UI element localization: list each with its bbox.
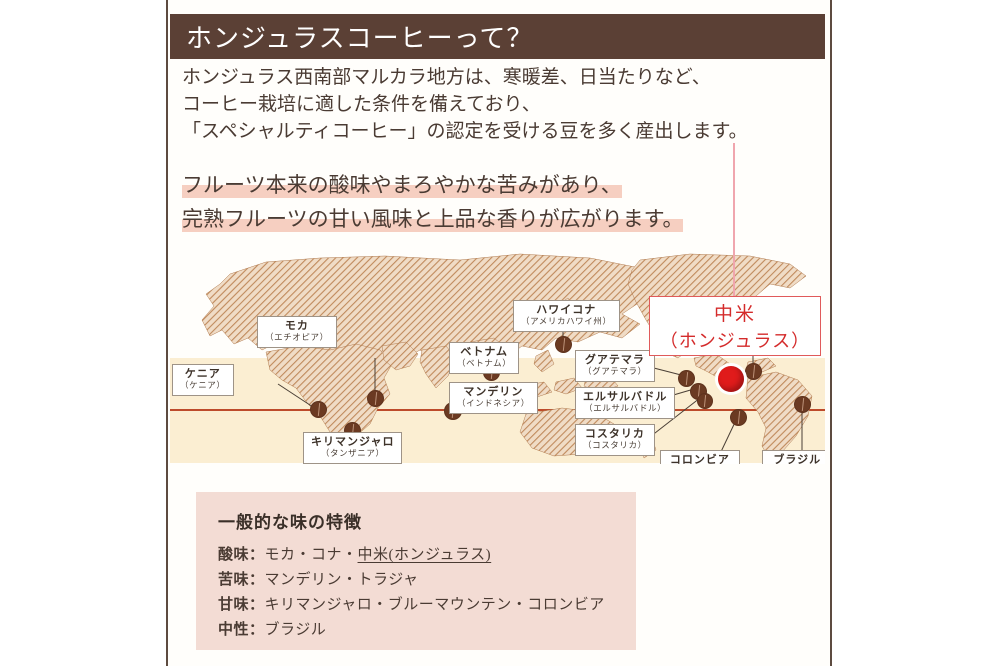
map-label-country: （インドネシア）	[457, 399, 530, 409]
map-label-mocha: モカ （エチオピア）	[257, 316, 337, 348]
page-frame-right-rule	[830, 0, 832, 666]
intro-line-3: 「スペシャルティコーヒー」の認定を受ける豆を多く産出します。	[182, 118, 822, 145]
legend-row-label: 甘味：	[218, 597, 265, 613]
bean-marker-blue-mountain	[745, 363, 762, 380]
highlight-line-2: 完熟フルーツの甘い風味と上品な香りが広がります。	[182, 202, 683, 236]
legend-row-label: 酸味：	[218, 547, 265, 563]
bean-marker-mocha	[367, 390, 384, 407]
legend-row-items: キリマンジャロ・ブルーマウンテン・コロンビア	[265, 597, 605, 613]
map-label-vietnam: ベトナム （ベトナム）	[449, 342, 519, 374]
map-label-name: モカ	[265, 320, 329, 332]
legend-row-items: モカ・コナ・	[265, 547, 358, 563]
highlight-line-2-text: 完熟フルーツの甘い風味と上品な香りが広がります。	[182, 207, 683, 231]
map-label-name: キリマンジャロ	[311, 436, 394, 448]
legend-row-items: ブラジル	[265, 622, 327, 638]
highlight-paragraph: フルーツ本来の酸味やまろやかな苦みがあり、 完熟フルーツの甘い風味と上品な香りが…	[182, 168, 822, 236]
legend-row-neutral: 中性：ブラジル	[218, 618, 636, 643]
legend-row-acidity: 酸味：モカ・コナ・中米(ホンジュラス)	[218, 543, 636, 568]
legend-heading: 一般的な味の特徴	[218, 508, 636, 533]
map-label-guatemala: グアテマラ （グアテマラ）	[575, 350, 655, 382]
legend-row-sweetness: 甘味：キリマンジャロ・ブルーマウンテン・コロンビア	[218, 593, 636, 618]
callout-line-1: 中米	[714, 299, 756, 326]
map-label-country: （エチオピア）	[265, 333, 329, 343]
map-label-name: ハワイコナ	[521, 304, 612, 316]
intro-line-2: コーヒー栽培に適した条件を備えており、	[182, 91, 822, 118]
legend-row-label: 苦味：	[218, 572, 265, 588]
map-label-name: エルサルバドル	[583, 391, 667, 403]
map-label-mandheling: マンデリン （インドネシア）	[449, 382, 538, 414]
legend-row-bitterness: 苦味：マンデリン・トラジャ	[218, 568, 636, 593]
page-title: ホンジュラスコーヒーって？	[170, 18, 533, 55]
bean-marker-brazil	[794, 396, 811, 413]
map-label-country: （ベトナム）	[457, 359, 511, 369]
map-label-colombia: コロンビア （コロンビア）	[660, 450, 740, 464]
content-area: ホンジュラスコーヒーって？ ホンジュラス西南部マルカラ地方は、寒暖差、日当たりな…	[168, 0, 830, 666]
map-label-country: （コスタリカ）	[583, 441, 647, 451]
legend-row-emphasis: 中米(ホンジュラス)	[358, 547, 492, 563]
map-label-costa-rica: コスタリカ （コスタリカ）	[575, 424, 655, 456]
map-label-country: （エルサルバドル）	[583, 404, 667, 414]
map-label-country: （グアテマラ）	[583, 367, 647, 377]
map-label-country: （アメリカハワイ州）	[521, 317, 612, 327]
map-label-kenya: ケニア （ケニア）	[172, 364, 234, 396]
map-label-name: グアテマラ	[583, 354, 647, 366]
section-title-bar: ホンジュラスコーヒーって？	[170, 14, 825, 59]
map-label-hawaii-kona: ハワイコナ （アメリカハワイ州）	[513, 300, 620, 332]
infographic-page: ホンジュラスコーヒーって？ ホンジュラス西南部マルカラ地方は、寒暖差、日当たりな…	[0, 0, 1000, 666]
highlight-line-1-text: フルーツ本来の酸味やまろやかな苦みがあり、	[182, 173, 622, 197]
bean-marker-costa-rica	[697, 393, 713, 409]
intro-line-1: ホンジュラス西南部マルカラ地方は、寒暖差、日当たりなど、	[182, 64, 822, 91]
map-label-country: （タンザニア）	[311, 449, 394, 459]
bean-marker-colombia	[730, 409, 747, 426]
map-label-name: コスタリカ	[583, 428, 647, 440]
legend-row-label: 中性：	[218, 622, 265, 638]
map-label-name: ケニア	[180, 368, 226, 380]
legend-row-items: マンデリン・トラジャ	[265, 572, 419, 588]
callout-connector-line	[733, 143, 735, 298]
map-label-kilimanjaro: キリマンジャロ （タンザニア）	[303, 432, 402, 464]
honduras-callout: 中米 （ホンジュラス）	[649, 296, 821, 356]
map-label-name: ブラジル	[770, 454, 824, 464]
intro-paragraph: ホンジュラス西南部マルカラ地方は、寒暖差、日当たりなど、 コーヒー栽培に適した条…	[182, 64, 822, 145]
bean-marker-honduras-highlight	[718, 366, 744, 392]
map-label-name: ベトナム	[457, 346, 511, 358]
callout-line-2: （ホンジュラス）	[660, 327, 810, 353]
flavor-legend-panel: 一般的な味の特徴 酸味：モカ・コナ・中米(ホンジュラス) 苦味：マンデリン・トラ…	[196, 492, 636, 650]
map-label-brazil: ブラジル （ブラジル）	[762, 450, 825, 464]
bean-marker-kenya	[310, 401, 327, 418]
map-label-country: （ケニア）	[180, 381, 226, 391]
map-label-el-salvador: エルサルバドル （エルサルバドル）	[575, 387, 675, 419]
bean-marker-hawaii-kona	[555, 336, 572, 353]
map-label-name: コロンビア	[668, 454, 732, 464]
highlight-line-1: フルーツ本来の酸味やまろやかな苦みがあり、	[182, 168, 622, 202]
map-label-name: マンデリン	[457, 386, 530, 398]
